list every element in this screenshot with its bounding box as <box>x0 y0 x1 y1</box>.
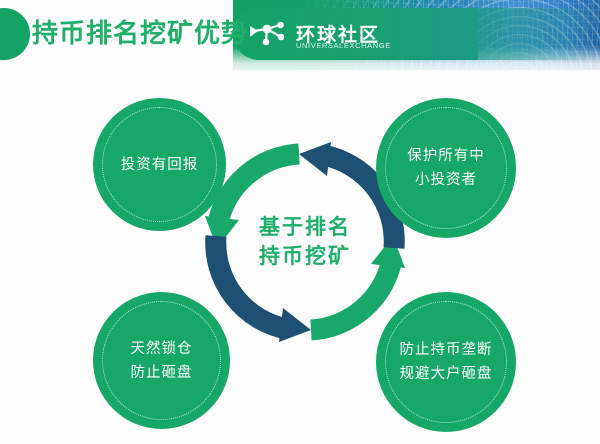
bubble-bottom-left-line2: 防止砸盘 <box>131 361 193 385</box>
bubble-bottom-right-line1: 防止持币垄断 <box>400 338 493 362</box>
bubble-top-right-line1: 保护所有中 <box>407 144 485 168</box>
cycle-center-line2: 持币挖矿 <box>228 242 382 271</box>
bubble-top-right[interactable]: 保护所有中 小投资者 <box>376 98 516 238</box>
header-left-circle-accent <box>0 8 30 60</box>
bubble-bottom-right-line2: 规避大户砸盘 <box>400 362 493 386</box>
logo-name-en: UNIVERSALEXCHANGE <box>296 41 391 50</box>
page-title: 持币排名挖矿优势 <box>32 13 248 53</box>
bubble-bottom-left-line1: 天然锁仓 <box>131 337 193 361</box>
bubble-bottom-left[interactable]: 天然锁仓 防止砸盘 <box>93 292 230 429</box>
slide-canvas: 持币排名挖矿优势 环球社区 UNIVERSALEXCHANGE <box>0 0 600 444</box>
molecule-network-icon <box>250 20 290 50</box>
header-banner: 持币排名挖矿优势 环球社区 UNIVERSALEXCHANGE <box>0 0 600 78</box>
cycle-center-label: 基于排名 持币挖矿 <box>228 213 382 271</box>
bubble-top-left[interactable]: 投资有回报 <box>93 98 226 231</box>
bubble-top-left-line1: 投资有回报 <box>121 153 199 177</box>
bubble-top-right-line2: 小投资者 <box>415 168 477 192</box>
bubble-bottom-right[interactable]: 防止持币垄断 规避大户砸盘 <box>376 292 516 432</box>
cycle-center-line1: 基于排名 <box>228 213 382 242</box>
